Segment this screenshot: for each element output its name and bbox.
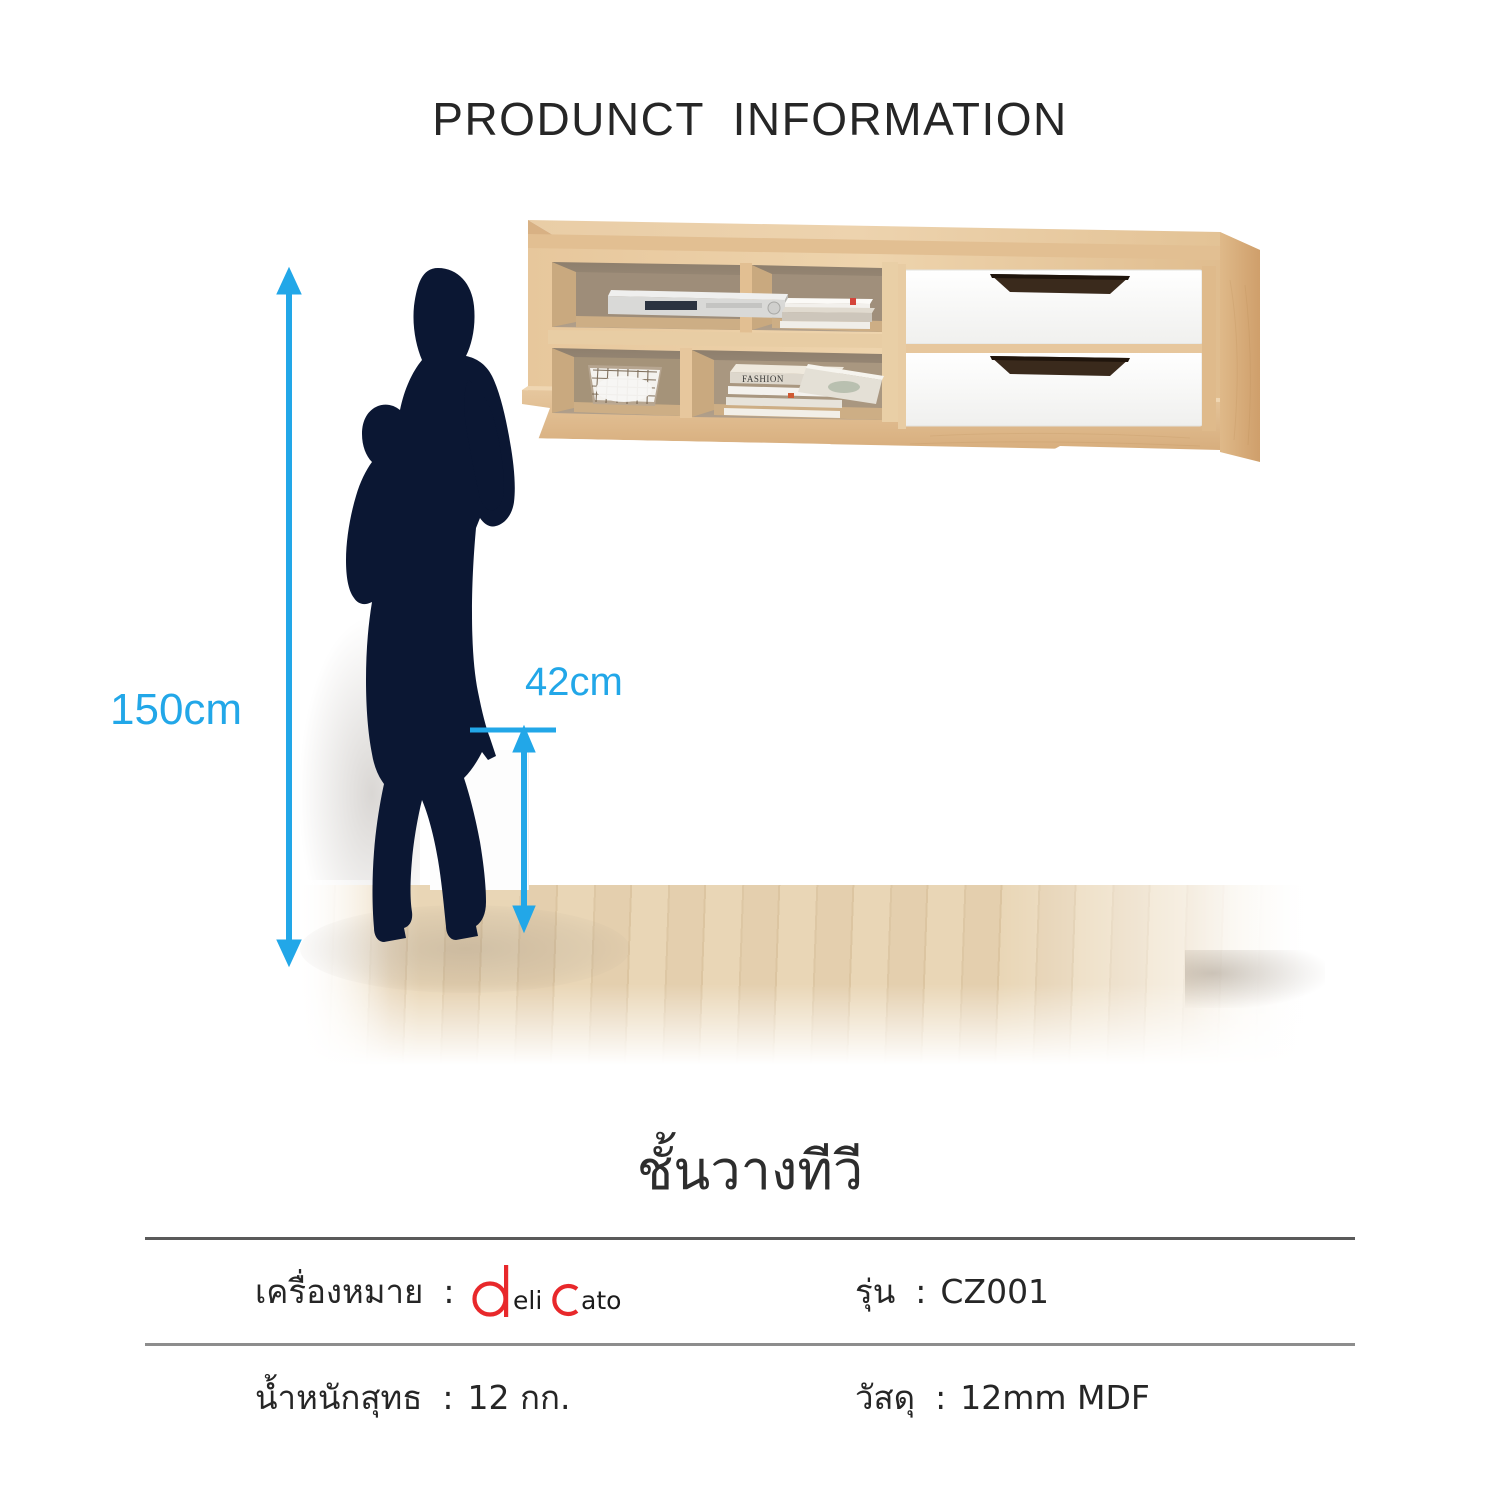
spec-value-material: 12mm MDF [960, 1378, 1150, 1417]
spec-colon-brand: : [423, 1272, 468, 1311]
delicato-logo: eli ato [469, 1263, 641, 1321]
specification-table: เครื่องหมาย : eli ato รุ่น : CZ001 [145, 1237, 1355, 1449]
spec-value-weight: 12 กก. [468, 1371, 571, 1424]
page-title: PRODUNCT INFORMATION [0, 92, 1500, 146]
svg-text:FASHION: FASHION [742, 374, 784, 384]
spec-label-brand: เครื่องหมาย [255, 1265, 423, 1318]
spec-colon-model: : [895, 1272, 940, 1311]
product-name-th: ชั้นวางทีวี [0, 1140, 1500, 1202]
spec-cell-weight: น้ำหนักสุทธ : 12 กก. [255, 1371, 855, 1424]
spec-cell-model: รุ่น : CZ001 [855, 1265, 1355, 1318]
spec-cell-material: วัสดุ : 12mm MDF [855, 1371, 1355, 1424]
spec-colon-material: : [915, 1378, 960, 1417]
spec-label-material: วัสดุ [855, 1371, 915, 1424]
spec-row-weight-material: น้ำหนักสุทธ : 12 กก. วัสดุ : 12mm MDF [145, 1346, 1355, 1449]
spec-row-brand-model: เครื่องหมาย : eli ato รุ่น : CZ001 [145, 1240, 1355, 1343]
svg-text:eli: eli [513, 1286, 542, 1315]
spec-colon-weight: : [422, 1378, 467, 1417]
spec-label-model: รุ่น [855, 1265, 895, 1318]
svg-text:ato: ato [581, 1286, 621, 1315]
product-scene: FASHION [0, 190, 1500, 1060]
spec-label-weight: น้ำหนักสุทธ [255, 1371, 422, 1424]
dimension-150-group: 150cm [110, 250, 340, 970]
dimension-42-label: 42cm [525, 660, 623, 705]
spec-value-model: CZ001 [940, 1272, 1049, 1311]
spec-cell-brand: เครื่องหมาย : eli ato [255, 1263, 855, 1321]
dimension-150-label: 150cm [110, 685, 242, 735]
